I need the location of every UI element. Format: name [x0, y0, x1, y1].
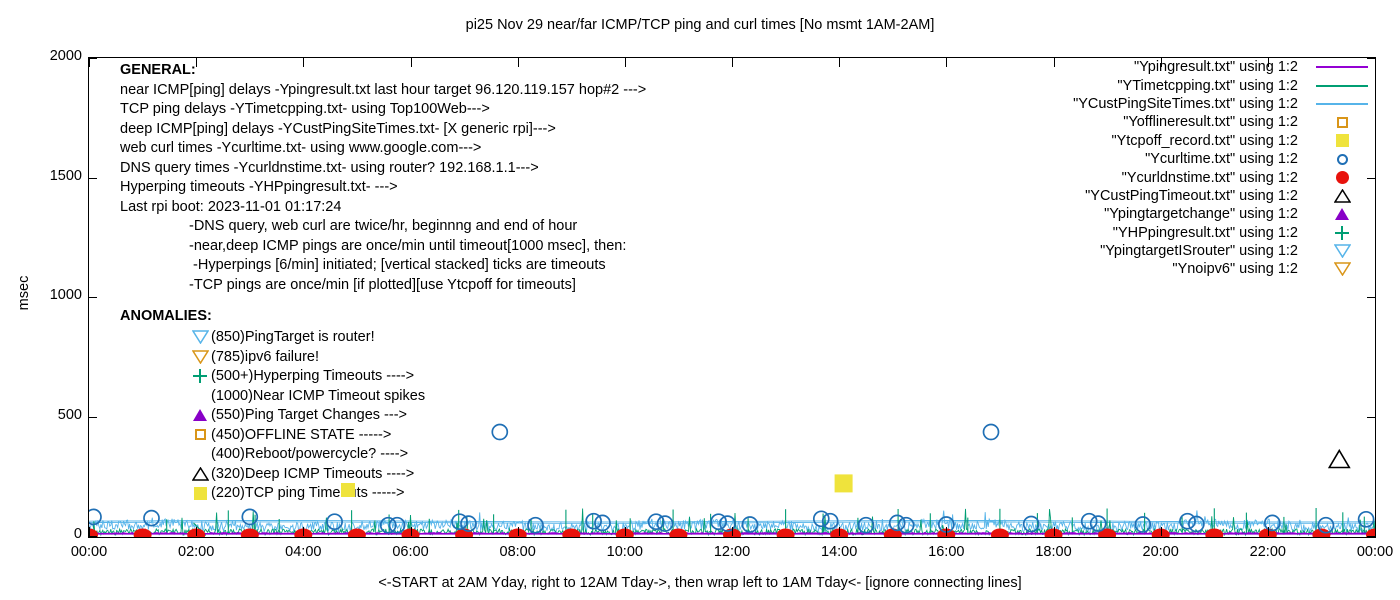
x-tick-mark — [1054, 527, 1055, 536]
x-tick-label: 14:00 — [809, 544, 869, 560]
line-icon — [1316, 85, 1368, 87]
anomaly-label: (220)TCP ping Timeouts -----> — [211, 485, 405, 501]
anomaly-key — [189, 330, 211, 344]
anomaly-label: (850)PingTarget is router! — [211, 329, 375, 345]
anomaly-row: (785)ipv6 failure! — [189, 347, 425, 367]
marker-dns-time — [241, 529, 259, 538]
y-tick-mark-right — [1367, 536, 1376, 537]
x-tick-mark — [839, 527, 840, 536]
marker-tcp-timeout-overlap — [341, 483, 355, 497]
x-tick-mark — [732, 527, 733, 536]
legend-item[interactable]: "Ypingtargetchange" using 1:2 — [960, 205, 1376, 223]
legend-key — [1308, 242, 1376, 260]
general-indented-line: -near,deep ICMP pings are once/min until… — [189, 238, 646, 258]
legend-key — [1308, 169, 1376, 187]
x-tick-mark-top — [732, 58, 733, 67]
anomaly-key — [189, 467, 211, 481]
marker-curl-time — [814, 511, 829, 526]
x-tick-mark — [518, 527, 519, 536]
legend-item[interactable]: "Yofflineresult.txt" using 1:2 — [960, 113, 1376, 131]
legend-item[interactable]: "YHPpingresult.txt" using 1:2 — [960, 224, 1376, 242]
marker-curl-time — [859, 518, 874, 533]
y-tick-mark-right — [1367, 297, 1376, 298]
legend-item-label: "Ytcpoff_record.txt" using 1:2 — [1111, 133, 1308, 149]
legend-key — [1308, 224, 1376, 242]
legend-item[interactable]: "Ypingresult.txt" using 1:2 — [960, 58, 1376, 76]
x-tick-label: 10:00 — [595, 544, 655, 560]
anomaly-label: (500+)Hyperping Timeouts ----> — [211, 368, 414, 384]
y-tick-label: 500 — [22, 407, 82, 423]
legend-key — [1308, 150, 1376, 168]
y-tick-label: 0 — [22, 526, 82, 542]
legend-key — [1308, 95, 1376, 113]
y-tick-label: 1500 — [22, 168, 82, 184]
legend-item-label: "Ycurldnstime.txt" using 1:2 — [1122, 170, 1308, 186]
legend-item[interactable]: "Ycurltime.txt" using 1:2 — [960, 150, 1376, 168]
line-icon — [1316, 103, 1368, 105]
legend-item[interactable]: "YCustPingTimeout.txt" using 1:2 — [960, 187, 1376, 205]
anomaly-row: (400)Reboot/powercycle? ----> — [189, 445, 425, 465]
triangle-down-open-icon — [1334, 244, 1351, 258]
general-lines: near ICMP[ping] delays -Ypingresult.txt … — [120, 82, 646, 219]
legend-item-label: "Ycurltime.txt" using 1:2 — [1145, 151, 1308, 167]
anomaly-key — [189, 487, 211, 500]
general-annotation-block: GENERAL: near ICMP[ping] delays -Ypingre… — [120, 62, 646, 296]
triangle-down-open-icon — [192, 330, 209, 344]
x-tick-mark-top — [839, 58, 840, 67]
legend-item[interactable]: "Ytcpoff_record.txt" using 1:2 — [960, 132, 1376, 150]
anomaly-label: (400)Reboot/powercycle? ----> — [211, 446, 408, 462]
x-tick-label: 20:00 — [1131, 544, 1191, 560]
legend-key — [1308, 260, 1376, 278]
x-tick-mark — [89, 527, 90, 536]
y-tick-mark — [88, 536, 97, 537]
triangle-down-open-icon — [1334, 262, 1351, 276]
marker-curl-time — [1024, 517, 1039, 532]
general-line: deep ICMP[ping] delays -YCustPingSiteTim… — [120, 121, 646, 141]
anomalies-annotation-block: ANOMALIES: (850)PingTarget is router!(78… — [120, 308, 425, 503]
general-line: DNS query times -Ycurldnstime.txt- using… — [120, 160, 646, 180]
anomaly-label: (550)Ping Target Changes ---> — [211, 407, 407, 423]
general-line: Last rpi boot: 2023-11-01 01:17:24 — [120, 199, 646, 219]
anomalies-heading: ANOMALIES: — [120, 308, 425, 328]
y-tick-label: 1000 — [22, 287, 82, 303]
y-tick-mark-right — [1367, 417, 1376, 418]
y-tick-label: 2000 — [22, 48, 82, 64]
x-tick-mark — [196, 527, 197, 536]
circle-open-icon — [1337, 154, 1348, 165]
legend-key — [1308, 132, 1376, 150]
marker-dns-time — [991, 529, 1009, 538]
circle-filled-icon — [1336, 171, 1349, 184]
triangle-up-open-icon — [1334, 189, 1351, 203]
x-tick-label: 04:00 — [273, 544, 333, 560]
x-tick-mark — [1375, 527, 1376, 536]
y-tick-mark — [88, 178, 97, 179]
anomaly-key — [189, 350, 211, 364]
legend-item-label: "Yofflineresult.txt" using 1:2 — [1123, 114, 1308, 130]
marker-curl-time — [984, 425, 999, 440]
square-filled-icon — [194, 487, 207, 500]
legend-item-label: "Ypingresult.txt" using 1:2 — [1134, 59, 1308, 75]
general-line: Hyperping timeouts -YHPpingresult.txt- -… — [120, 179, 646, 199]
anomaly-key — [189, 369, 211, 383]
general-indented-line: -TCP pings are once/min [if plotted][use… — [189, 277, 646, 297]
triangle-up-filled-icon — [193, 409, 207, 421]
x-tick-label: 06:00 — [381, 544, 441, 560]
legend-key — [1308, 187, 1376, 205]
general-indented-lines: -DNS query, web curl are twice/hr, begin… — [120, 218, 646, 296]
general-line: near ICMP[ping] delays -Ypingresult.txt … — [120, 82, 646, 102]
marker-deep-icmp-timeout — [1329, 451, 1349, 468]
square-open-icon — [1337, 117, 1348, 128]
general-heading: GENERAL: — [120, 62, 646, 82]
legend-item[interactable]: "Ynoipv6" using 1:2 — [960, 260, 1376, 278]
square-open-icon — [195, 429, 206, 440]
anomaly-label: (785)ipv6 failure! — [211, 349, 319, 365]
line-icon — [1316, 66, 1368, 68]
anomaly-rows: (850)PingTarget is router!(785)ipv6 fail… — [120, 328, 425, 504]
x-tick-label: 22:00 — [1238, 544, 1298, 560]
anomaly-row: (550)Ping Target Changes ---> — [189, 406, 425, 426]
anomaly-row: (850)PingTarget is router! — [189, 328, 425, 348]
anomaly-key — [189, 429, 211, 440]
marker-curl-time — [492, 425, 507, 440]
x-axis-label: <-START at 2AM Yday, right to 12AM Tday-… — [0, 575, 1400, 591]
anomaly-label: (1000)Near ICMP Timeout spikes — [211, 388, 425, 404]
x-tick-mark — [411, 527, 412, 536]
legend-item-label: "YCustPingTimeout.txt" using 1:2 — [1085, 188, 1308, 204]
legend-item-label: "YHPpingresult.txt" using 1:2 — [1113, 225, 1308, 241]
legend-key — [1308, 113, 1376, 131]
anomaly-label: (320)Deep ICMP Timeouts ----> — [211, 466, 414, 482]
page-title: pi25 Nov 29 near/far ICMP/TCP ping and c… — [0, 17, 1400, 33]
legend-item-label: "YCustPingSiteTimes.txt" using 1:2 — [1073, 96, 1308, 112]
x-tick-mark-top — [946, 58, 947, 67]
legend-key — [1308, 77, 1376, 95]
anomaly-row: (320)Deep ICMP Timeouts ----> — [189, 464, 425, 484]
general-indented-line: -DNS query, web curl are twice/hr, begin… — [189, 218, 646, 238]
x-tick-label: 00:00 — [59, 544, 119, 560]
legend-item-label: "YTimetcpping.txt" using 1:2 — [1117, 78, 1308, 94]
x-tick-label: 08:00 — [488, 544, 548, 560]
x-tick-label: 16:00 — [916, 544, 976, 560]
x-tick-mark — [946, 527, 947, 536]
anomaly-key — [189, 409, 211, 421]
legend-key — [1308, 58, 1376, 76]
legend-item[interactable]: "YTimetcpping.txt" using 1:2 — [960, 76, 1376, 94]
plus-icon — [1335, 226, 1349, 240]
x-tick-mark — [1268, 527, 1269, 536]
y-tick-mark — [88, 297, 97, 298]
legend-key — [1308, 205, 1376, 223]
x-tick-mark — [1161, 527, 1162, 536]
chart-legend: "Ypingresult.txt" using 1:2"YTimetcpping… — [960, 58, 1376, 279]
anomaly-row: (1000)Near ICMP Timeout spikes — [189, 386, 425, 406]
triangle-up-open-icon — [192, 467, 209, 481]
general-line: web curl times -Ycurltime.txt- using www… — [120, 140, 646, 160]
marker-tcp-timeout — [835, 474, 853, 492]
x-tick-mark-top — [89, 58, 90, 67]
triangle-down-open-icon — [192, 350, 209, 364]
legend-item[interactable]: "YpingtargetISrouter" using 1:2 — [960, 242, 1376, 260]
x-tick-label: 00:00 — [1345, 544, 1400, 560]
legend-item-label: "Ynoipv6" using 1:2 — [1172, 261, 1308, 277]
general-indented-line: -Hyperpings [6/min] initiated; [vertical… — [189, 257, 646, 277]
y-tick-mark — [88, 417, 97, 418]
plus-icon — [193, 369, 207, 383]
x-tick-mark — [303, 527, 304, 536]
anomaly-row: (450)OFFLINE STATE -----> — [189, 425, 425, 445]
general-line: TCP ping delays -YTimetcpping.txt- using… — [120, 101, 646, 121]
triangle-up-filled-icon — [1335, 208, 1349, 220]
square-filled-icon — [1336, 134, 1349, 147]
legend-item-label: "YpingtargetISrouter" using 1:2 — [1100, 243, 1308, 259]
x-tick-label: 18:00 — [1024, 544, 1084, 560]
x-tick-label: 02:00 — [166, 544, 226, 560]
legend-item[interactable]: "Ycurldnstime.txt" using 1:2 — [960, 168, 1376, 186]
legend-item[interactable]: "YCustPingSiteTimes.txt" using 1:2 — [960, 95, 1376, 113]
anomaly-label: (450)OFFLINE STATE -----> — [211, 427, 391, 443]
anomaly-row: (500+)Hyperping Timeouts ----> — [189, 367, 425, 387]
legend-item-label: "Ypingtargetchange" using 1:2 — [1104, 206, 1308, 222]
anomaly-row: (220)TCP ping Timeouts -----> — [189, 484, 425, 504]
x-tick-mark — [625, 527, 626, 536]
x-tick-label: 12:00 — [702, 544, 762, 560]
